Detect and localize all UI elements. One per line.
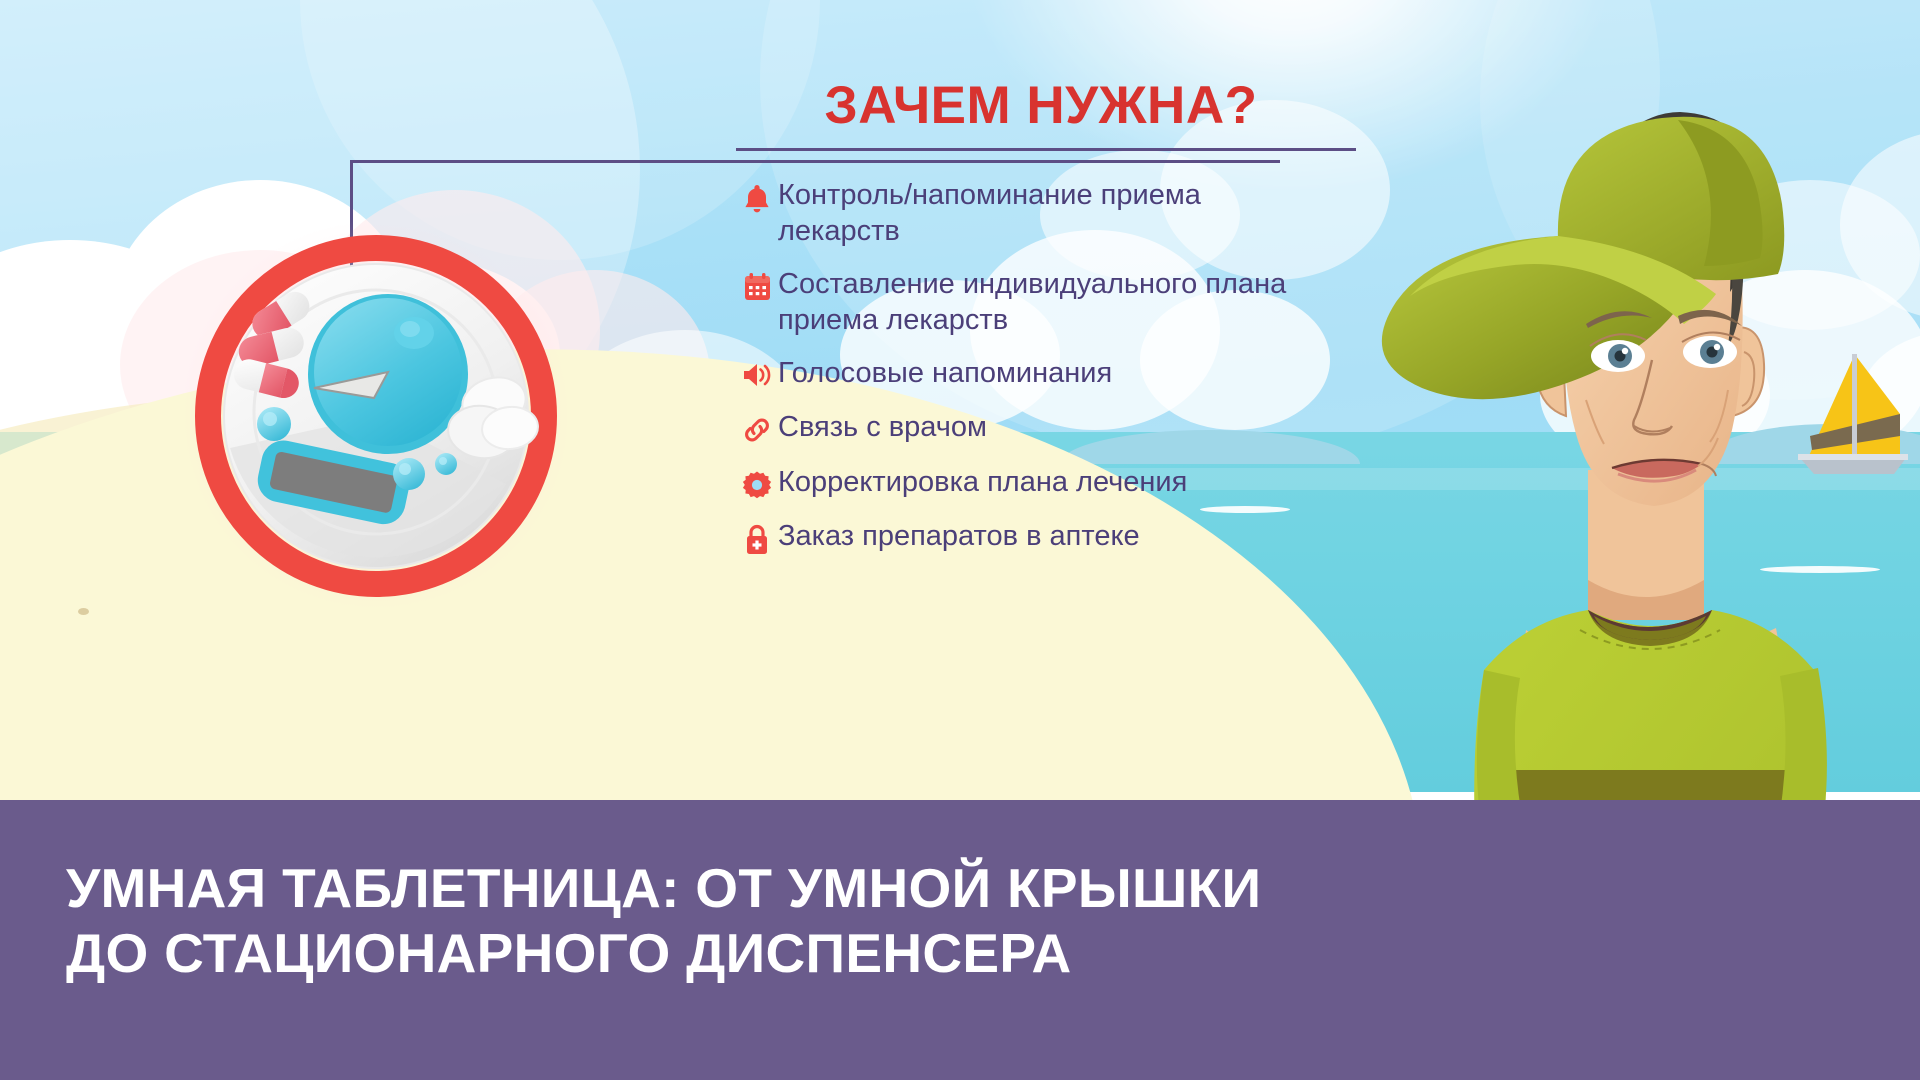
feature-label: Заказ препаратов в аптеке xyxy=(778,518,1140,555)
feature-label: Контроль/напоминание приема лекарств xyxy=(778,177,1308,250)
pharmacy-bag-icon xyxy=(736,518,778,556)
feature-item-voice: Голосовые напоминания xyxy=(736,355,1356,392)
panel-divider xyxy=(736,148,1356,151)
sand-pebble xyxy=(78,608,89,615)
feature-item-adjust-plan: Корректировка плана лечения xyxy=(736,464,1356,501)
infographic-canvas: ЗАЧЕМ НУЖНА? Контроль/напоминание приема… xyxy=(0,0,1920,1080)
feature-list: Контроль/напоминание приема лекарств xyxy=(736,177,1356,557)
features-panel: ЗАЧЕМ НУЖНА? Контроль/напоминание приема… xyxy=(736,78,1356,574)
smart-pill-dispenser xyxy=(176,216,576,616)
feature-item-pharmacy-order: Заказ препаратов в аптеке xyxy=(736,518,1356,556)
feature-item-plan: Составление индивидуального плана приема… xyxy=(736,266,1356,339)
panel-title: ЗАЧЕМ НУЖНА? xyxy=(736,78,1356,134)
feature-label: Связь с врачом xyxy=(778,409,987,446)
speaker-icon xyxy=(736,355,778,389)
feature-item-doctor-link: Связь с врачом xyxy=(736,409,1356,446)
banner-title-line1: Умная таблетница: от умной крышки xyxy=(66,856,1406,921)
feature-item-reminder: Контроль/напоминание приема лекарств xyxy=(736,177,1356,250)
bell-icon xyxy=(736,177,778,215)
banner-title-line2: до стационарного диспенсера xyxy=(66,921,1406,986)
feature-label: Корректировка плана лечения xyxy=(778,464,1187,501)
calendar-icon xyxy=(736,266,778,302)
gear-icon xyxy=(736,464,778,500)
feature-label: Голосовые напоминания xyxy=(778,355,1112,392)
feature-label: Составление индивидуального плана приема… xyxy=(778,266,1308,339)
banner-title: Умная таблетница: от умной крышки до ста… xyxy=(66,856,1406,986)
link-icon xyxy=(736,409,778,445)
